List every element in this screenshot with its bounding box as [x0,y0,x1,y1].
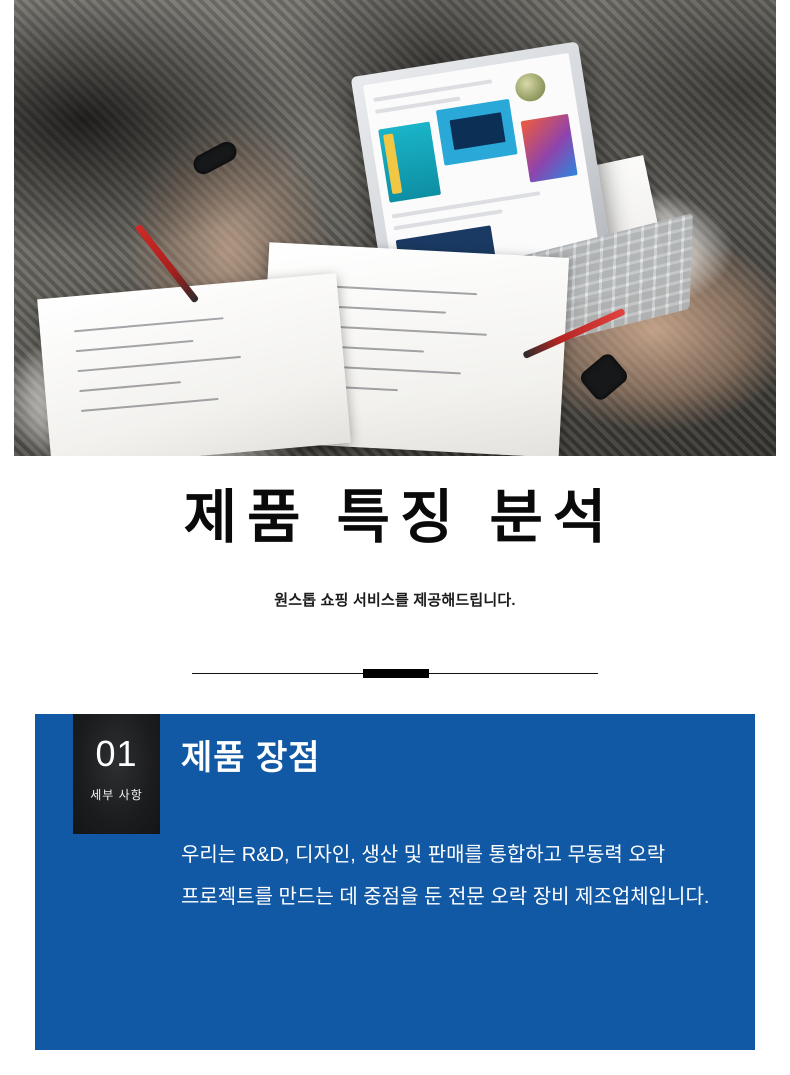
laptop-screen [363,53,599,276]
title-block: 제품 특징 분석 원스톱 쇼핑 서비스를 제공해드립니다. [0,488,790,610]
page-subtitle: 원스톱 쇼핑 서비스를 제공해드립니다. [0,589,790,610]
card-badge: 01 세부 사항 [73,714,160,834]
feature-card: 01 세부 사항 제품 장점 우리는 R&D, 디자인, 생산 및 판매를 통합… [35,714,755,1050]
hero-image [14,0,776,456]
page-title: 제품 특징 분석 [0,488,790,549]
badge-number: 01 [73,714,160,772]
divider-knob [363,669,429,678]
badge-caption: 세부 사항 [73,772,160,803]
card-heading: 제품 장점 [181,739,321,778]
section-divider [192,669,598,678]
card-body-text: 우리는 R&D, 디자인, 생산 및 판매를 통합하고 무동력 오락 프로젝트를… [181,834,713,918]
